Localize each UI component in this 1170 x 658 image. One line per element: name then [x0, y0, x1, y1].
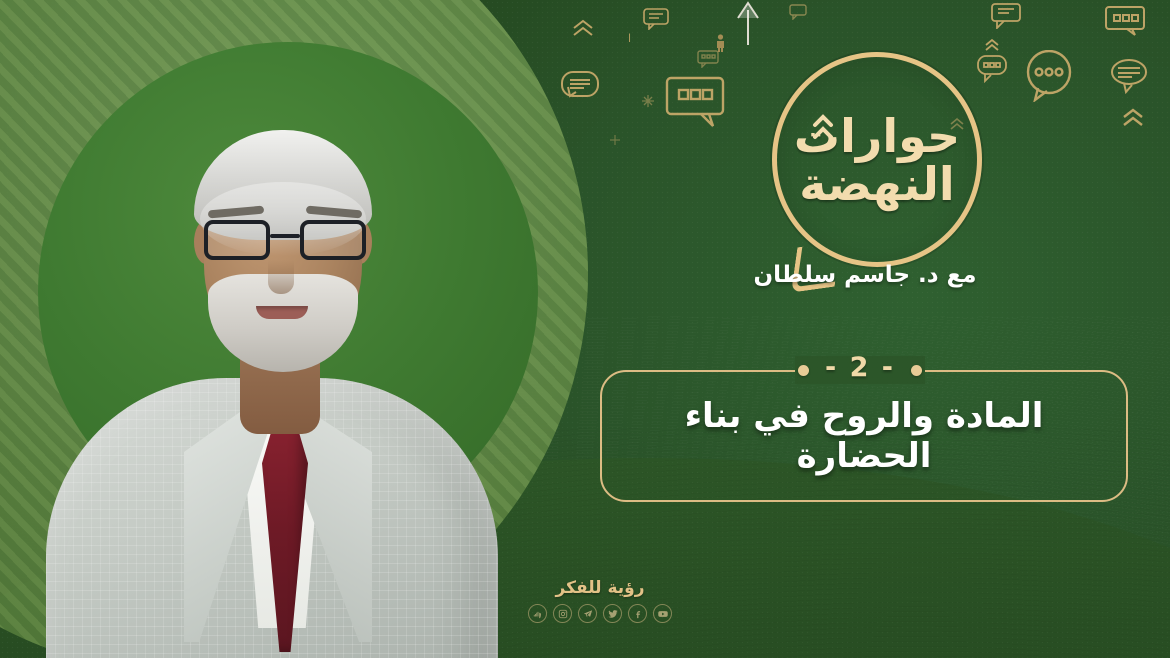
poster-canvas: ا: [0, 0, 1170, 658]
social-links: [455, 604, 745, 623]
eyeglasses: [202, 220, 368, 260]
small-dot-icon: ا: [628, 32, 631, 45]
twitter-icon[interactable]: [603, 604, 622, 623]
host-name-line: مع د. جاسم سلطان: [600, 262, 1130, 288]
chat-bubble-mini-icon: [789, 4, 807, 20]
portrait-circle: [38, 42, 538, 542]
host-portrait: [52, 92, 492, 658]
chat-bubble-large-dots-icon: [1025, 50, 1073, 102]
logo-line-2: النهضة: [799, 161, 954, 207]
arrow-up-icon: [735, 0, 761, 46]
chat-bubble-icon: [991, 3, 1021, 29]
youtube-icon[interactable]: [653, 604, 672, 623]
facebook-icon[interactable]: [628, 604, 647, 623]
chat-bubble-small-icon: [643, 8, 669, 30]
chevron-up-double-icon: [1122, 108, 1144, 128]
chevron-up-icon: [572, 18, 594, 38]
lens-right: [300, 220, 366, 260]
soundcloud-icon[interactable]: [528, 604, 547, 623]
chat-bubble-dots-icon: [665, 76, 725, 128]
person-icon: [716, 34, 725, 52]
instagram-icon[interactable]: [553, 604, 572, 623]
telegram-icon[interactable]: [578, 604, 597, 623]
mouth: [256, 306, 308, 319]
chevron-up-small-icon: [984, 38, 1000, 52]
glasses-bridge: [270, 234, 300, 238]
nose: [268, 260, 294, 294]
chat-bubble-oval-lines-icon: [1110, 58, 1148, 94]
footer-brand-name: رؤية للفكر: [455, 578, 745, 598]
episode-title: المادة والروح في بناء الحضارة: [600, 370, 1128, 502]
chat-bubble-lines-icon: [560, 70, 600, 106]
logo-chevron-icon: [812, 112, 834, 142]
sparkle-icon: [642, 95, 654, 107]
sparkle-small-icon: [610, 135, 620, 145]
lens-left: [204, 220, 270, 260]
chat-bubble-tiny-icon: [697, 50, 719, 68]
logo-text-block: حوارات النهضة: [772, 52, 982, 267]
program-logo: حوارات النهضة: [772, 52, 982, 267]
footer: رؤية للفكر: [455, 578, 745, 623]
chat-bubble-dots-wide-icon: [1105, 6, 1145, 36]
